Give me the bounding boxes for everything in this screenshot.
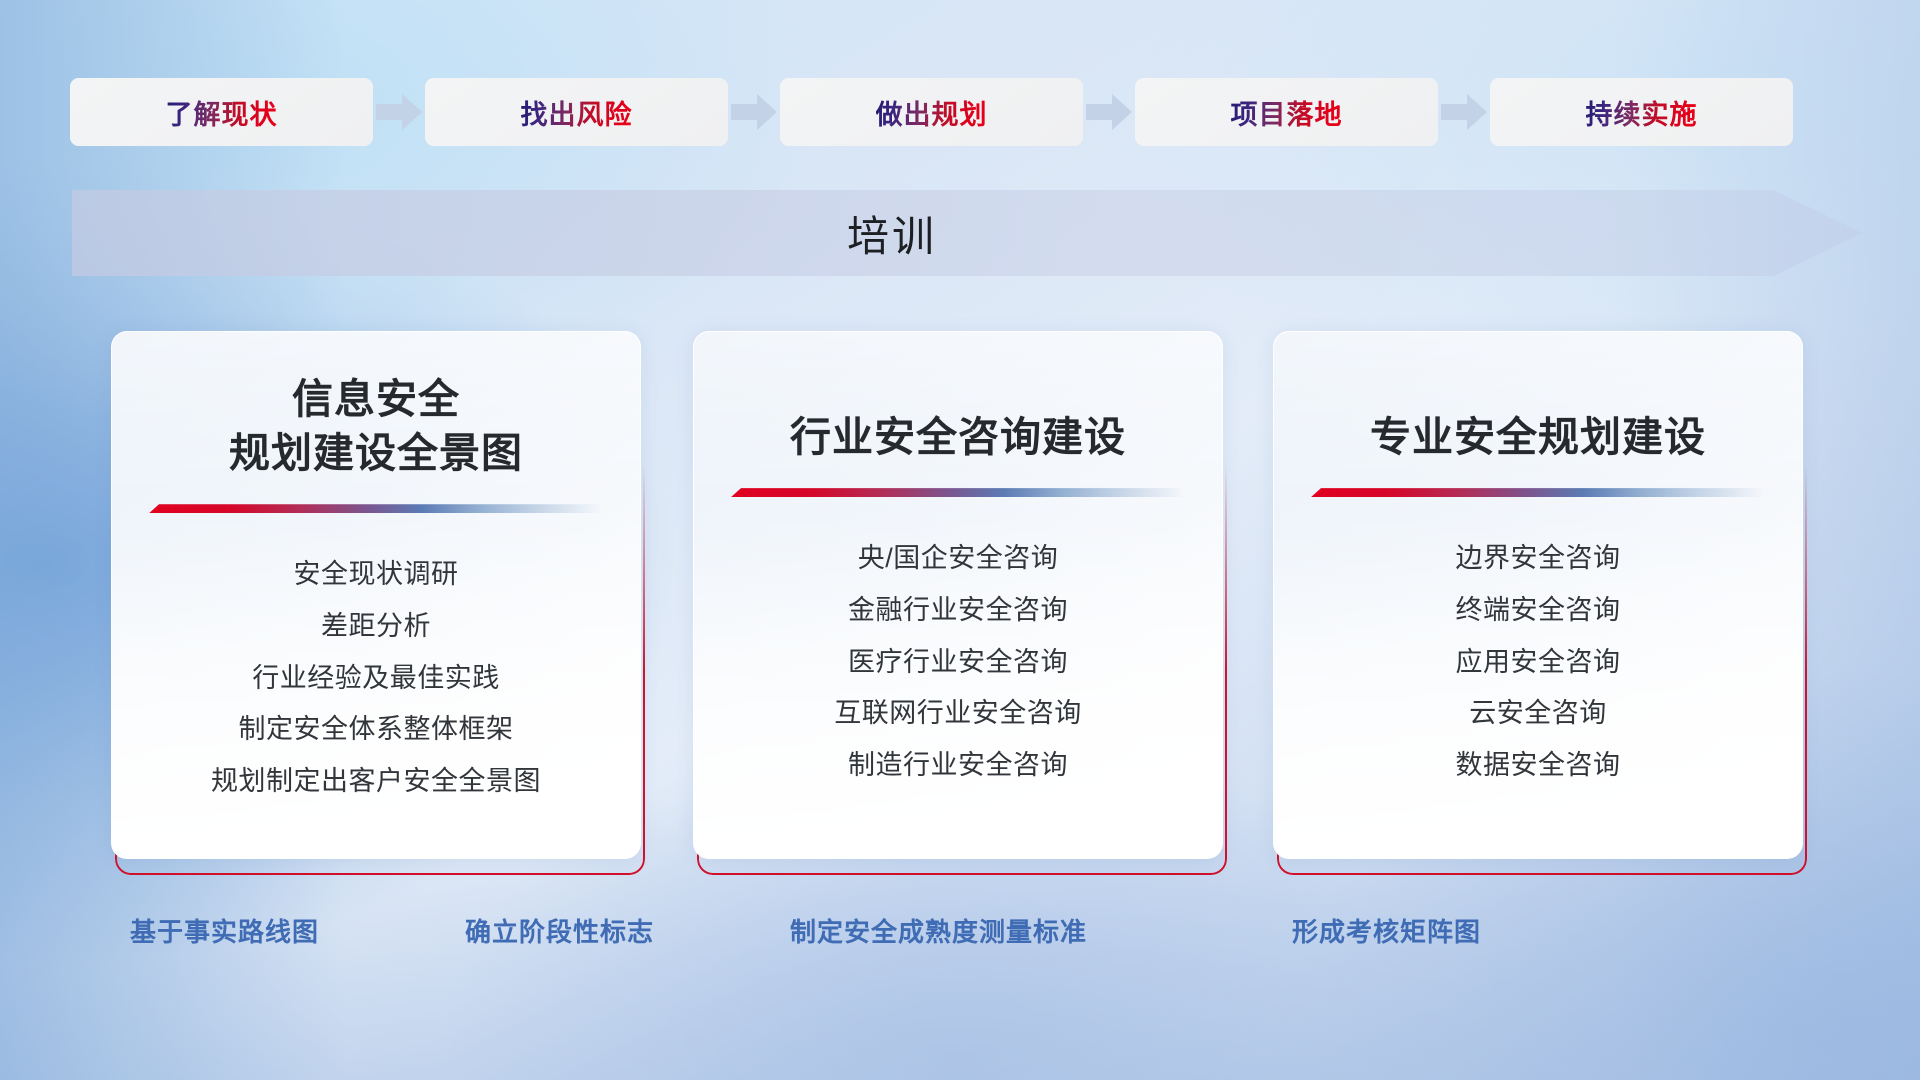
footnote-label: 制定安全成熟度测量标准	[790, 912, 1087, 949]
card-list: 安全现状调研 差距分析 行业经验及最佳实践 制定安全体系整体框架 规划制定出客户…	[138, 553, 614, 804]
step-box-2[interactable]: 找出风险	[425, 78, 728, 146]
arrow-right-icon	[1083, 92, 1135, 132]
card-title-line-1: 行业安全咨询建设	[790, 410, 1126, 464]
footnote-label: 形成考核矩阵图	[1292, 912, 1481, 949]
arrow-right-icon	[373, 92, 425, 132]
step-label: 了解现状	[166, 93, 278, 132]
card-divider	[731, 488, 1185, 497]
step-box-4[interactable]: 项目落地	[1135, 78, 1438, 146]
card-divider	[149, 504, 603, 513]
list-item: 差距分析	[321, 605, 431, 649]
list-item: 终端安全咨询	[1456, 589, 1621, 633]
list-item: 应用安全咨询	[1456, 641, 1621, 685]
card-divider-bar	[731, 488, 1185, 497]
list-item: 医疗行业安全咨询	[848, 641, 1068, 685]
process-step-flow: 了解现状 找出风险 做出规划 项目落地 持续实施	[70, 78, 1860, 146]
card-industry-security-consulting[interactable]: 行业安全咨询建设 央/国企安全咨询 金融行业安全咨询 医疗行业安全咨询 互联网行…	[697, 335, 1227, 875]
step-box-1[interactable]: 了解现状	[70, 78, 373, 146]
card-title: 专业安全规划建设	[1370, 410, 1706, 464]
list-item: 安全现状调研	[294, 553, 459, 597]
footnote-label: 基于事实路线图	[130, 912, 319, 949]
card-divider-bar	[1311, 488, 1765, 497]
list-item: 云安全咨询	[1469, 692, 1607, 736]
step-box-3[interactable]: 做出规划	[780, 78, 1083, 146]
list-item: 金融行业安全咨询	[848, 589, 1068, 633]
card-list: 边界安全咨询 终端安全咨询 应用安全咨询 云安全咨询 数据安全咨询	[1300, 537, 1776, 788]
card-divider-bar	[149, 504, 603, 513]
list-item: 互联网行业安全咨询	[834, 692, 1082, 736]
list-item: 边界安全咨询	[1456, 537, 1621, 581]
step-label: 做出规划	[876, 93, 988, 132]
card-professional-security-planning[interactable]: 专业安全规划建设 边界安全咨询 终端安全咨询 应用安全咨询 云安全咨询 数据安全…	[1277, 335, 1807, 875]
list-item: 制定安全体系整体框架	[239, 708, 514, 752]
list-item: 央/国企安全咨询	[858, 537, 1059, 581]
training-banner: 培训	[72, 190, 1862, 276]
footnote-row: 基于事实路线图 确立阶段性标志 制定安全成熟度测量标准 形成考核矩阵图	[0, 912, 1920, 958]
step-box-5[interactable]: 持续实施	[1490, 78, 1793, 146]
card-divider	[1311, 488, 1765, 497]
card-title: 信息安全 规划建设全景图	[229, 372, 523, 480]
card-list: 央/国企安全咨询 金融行业安全咨询 医疗行业安全咨询 互联网行业安全咨询 制造行…	[720, 537, 1196, 788]
card-title: 行业安全咨询建设	[790, 410, 1126, 464]
banner-title: 培训	[72, 190, 1712, 276]
card-group: 信息安全 规划建设全景图 安全现状调研 差距分析 行业经验及最佳实践 制定安全体…	[0, 335, 1920, 875]
list-item: 数据安全咨询	[1456, 744, 1621, 788]
card-title-line-2: 规划建设全景图	[229, 426, 523, 480]
arrow-right-icon	[728, 92, 780, 132]
list-item: 行业经验及最佳实践	[252, 657, 500, 701]
card-title-line-1: 信息安全	[229, 372, 523, 426]
footnote-label: 确立阶段性标志	[465, 912, 654, 949]
list-item: 规划制定出客户安全全景图	[211, 760, 541, 804]
card-body: 专业安全规划建设 边界安全咨询 终端安全咨询 应用安全咨询 云安全咨询 数据安全…	[1273, 331, 1803, 859]
card-title-line-1: 专业安全规划建设	[1370, 410, 1706, 464]
arrow-right-icon	[1438, 92, 1490, 132]
list-item: 制造行业安全咨询	[848, 744, 1068, 788]
step-label: 找出风险	[521, 93, 633, 132]
card-body: 行业安全咨询建设 央/国企安全咨询 金融行业安全咨询 医疗行业安全咨询 互联网行…	[693, 331, 1223, 859]
step-label: 项目落地	[1231, 93, 1343, 132]
card-body: 信息安全 规划建设全景图 安全现状调研 差距分析 行业经验及最佳实践 制定安全体…	[111, 331, 641, 859]
card-information-security-blueprint[interactable]: 信息安全 规划建设全景图 安全现状调研 差距分析 行业经验及最佳实践 制定安全体…	[115, 335, 645, 875]
step-label: 持续实施	[1586, 93, 1698, 132]
